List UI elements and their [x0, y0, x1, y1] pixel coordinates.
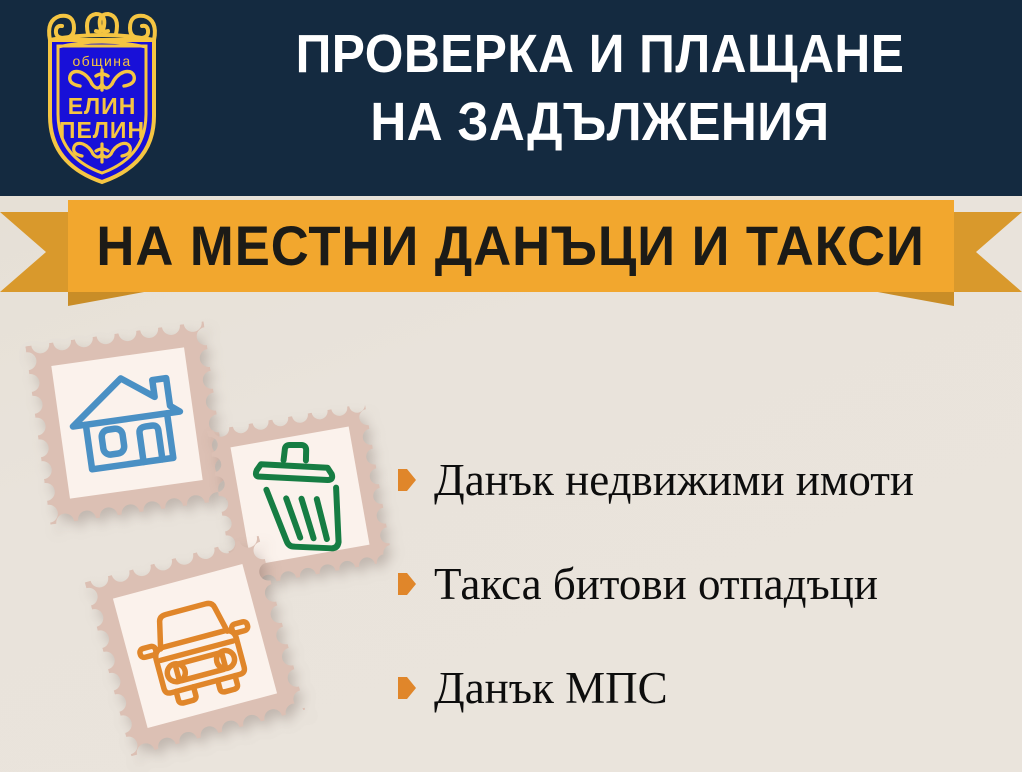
- coat-of-arms-icon: община ЕЛИН ПЕЛИН: [22, 4, 182, 189]
- arrow-bullet-icon: [398, 469, 416, 491]
- list-item-label: Данък недвижими имоти: [434, 455, 914, 505]
- emblem-name-line-2: ПЕЛИН: [59, 117, 145, 143]
- ribbon-banner: НА МЕСТНИ ДАНЪЦИ И ТАКСИ: [0, 196, 1022, 311]
- list-item: Такса битови отпадъци: [398, 532, 1008, 636]
- poster-canvas: община ЕЛИН ПЕЛИН ПРОВЕРКА: [0, 0, 1022, 772]
- arrow-bullet-icon: [398, 573, 416, 595]
- emblem-name-line-1: ЕЛИН: [68, 93, 137, 119]
- list-item-label: Данък МПС: [434, 663, 668, 713]
- list-item-label: Такса битови отпадъци: [434, 559, 878, 609]
- stamp-car-graphic: [80, 531, 310, 761]
- municipality-emblem: община ЕЛИН ПЕЛИН: [22, 4, 182, 189]
- ribbon-subtitle: НА МЕСТНИ ДАНЪЦИ И ТАКСИ: [97, 217, 925, 275]
- stamp-card-group: [0, 296, 420, 766]
- list-item: Данък недвижими имоти: [398, 428, 1008, 532]
- tax-type-list: Данък недвижими имоти Такса битови отпад…: [398, 428, 1008, 740]
- arrow-bullet-icon: [398, 677, 416, 699]
- header-title-block: ПРОВЕРКА И ПЛАЩАНЕ НА ЗАДЪЛЖЕНИЯ: [190, 20, 1010, 156]
- page-title-line-2: НА ЗАДЪЛЖЕНИЯ: [223, 88, 977, 156]
- ribbon-main-panel: НА МЕСТНИ ДАНЪЦИ И ТАКСИ: [68, 200, 954, 292]
- page-title-line-1: ПРОВЕРКА И ПЛАЩАНЕ: [223, 20, 977, 88]
- stamp-card-vehicle: [80, 531, 310, 766]
- list-item: Данък МПС: [398, 636, 1008, 740]
- emblem-word-obshtina: община: [72, 53, 131, 69]
